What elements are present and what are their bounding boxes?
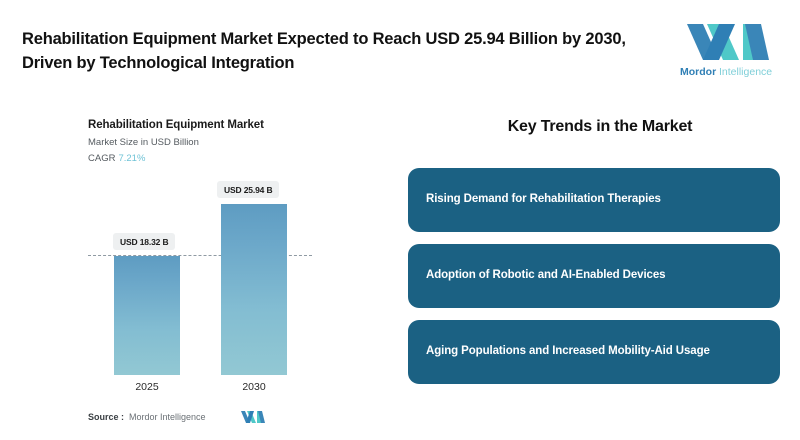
header: Rehabilitation Equipment Market Expected… (0, 0, 800, 100)
svg-text:Mordor: Mordor (680, 66, 716, 78)
bar-2025 (114, 256, 180, 375)
logo-wordmark: Mordor Intelligence (680, 65, 776, 78)
key-trends-list: Rising Demand for Rehabilitation Therapi… (408, 168, 780, 384)
key-trends-heading: Key Trends in the Market (410, 118, 790, 136)
x-axis-label-2025: 2025 (114, 381, 180, 393)
bar-chart-plot: USD 18.32 B USD 25.94 B 2025 2030 (0, 106, 400, 396)
infographic-page: Rehabilitation Equipment Market Expected… (0, 0, 800, 440)
page-title: Rehabilitation Equipment Market Expected… (22, 28, 662, 76)
logo-mark-icon (685, 22, 771, 62)
bar-2025-value-label: USD 18.32 B (113, 233, 175, 250)
trend-card-3[interactable]: Aging Populations and Increased Mobility… (408, 320, 780, 384)
trend-card-2-label: Adoption of Robotic and AI-Enabled Devic… (426, 267, 665, 284)
key-trends-panel: Key Trends in the Market Rising Demand f… (400, 106, 800, 440)
chart-source: Source : Mordor Intelligence (88, 410, 318, 424)
mordor-intelligence-logo: Mordor Intelligence (674, 22, 782, 78)
trend-card-2[interactable]: Adoption of Robotic and AI-Enabled Devic… (408, 244, 780, 308)
svg-text:Intelligence: Intelligence (719, 66, 772, 78)
source-label: Source : (88, 412, 124, 422)
source-logo-icon (240, 410, 266, 424)
bar-2030 (221, 204, 287, 375)
trend-card-1-label: Rising Demand for Rehabilitation Therapi… (426, 191, 661, 208)
trend-card-1[interactable]: Rising Demand for Rehabilitation Therapi… (408, 168, 780, 232)
chart-panel: Rehabilitation Equipment Market Market S… (0, 106, 400, 440)
source-name: Mordor Intelligence (129, 412, 206, 422)
bar-2030-value-label: USD 25.94 B (217, 181, 279, 198)
x-axis-label-2030: 2030 (221, 381, 287, 393)
trend-card-3-label: Aging Populations and Increased Mobility… (426, 343, 710, 360)
